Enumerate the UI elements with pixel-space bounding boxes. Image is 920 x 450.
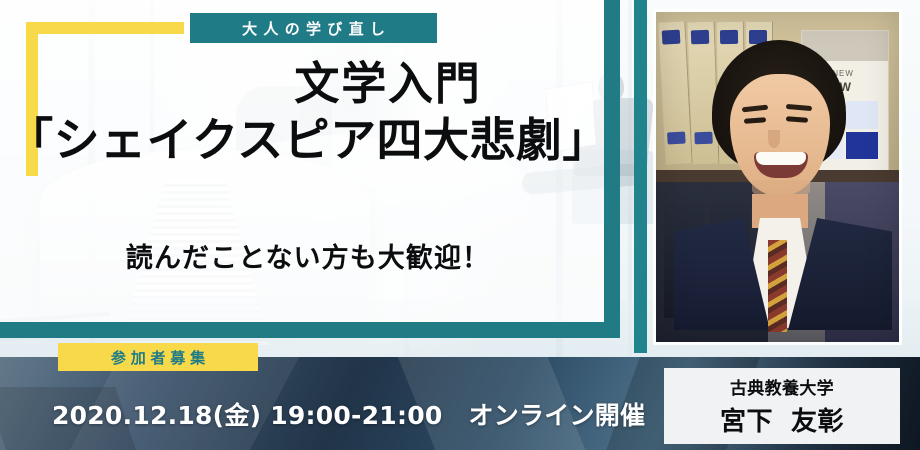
speaker-photo: THE NEW KNOW	[656, 12, 899, 342]
speaker-given-name: 友彰	[791, 407, 844, 437]
event-format: オンライン開催	[469, 401, 646, 430]
recruit-badge-label: 参加者募集	[106, 347, 210, 368]
recruit-badge: 参加者募集	[58, 343, 258, 371]
photo-vignette	[656, 12, 899, 342]
event-poster: 大人の学び直し 文学入門 「シェイクスピア四大悲劇」 読んだことない方も大歓迎！…	[0, 0, 920, 450]
speaker-organization: 古典教養大学	[730, 374, 834, 399]
speaker-name: 宮下友彰	[720, 401, 844, 438]
headline-block: 文学入門 「シェイクスピア四大悲劇」	[0, 60, 616, 166]
event-datetime-line: 2020.12.18(金) 19:00-21:00オンライン開催	[52, 396, 645, 432]
teal-vertical-bar	[634, 0, 647, 353]
eyebrow-label: 大人の学び直し	[236, 18, 391, 39]
subtitle: 読んだことない方も大歓迎！	[0, 236, 616, 275]
speaker-family-name: 宮下	[720, 407, 773, 437]
title-line-2: 「シェイクスピア四大悲劇」	[0, 115, 616, 166]
eyebrow-banner: 大人の学び直し	[190, 13, 437, 43]
speaker-info-box: 古典教養大学 宮下友彰	[664, 368, 900, 444]
event-datetime: 2020.12.18(金) 19:00-21:00	[52, 401, 443, 430]
title-line-1: 文学入門	[0, 60, 616, 107]
